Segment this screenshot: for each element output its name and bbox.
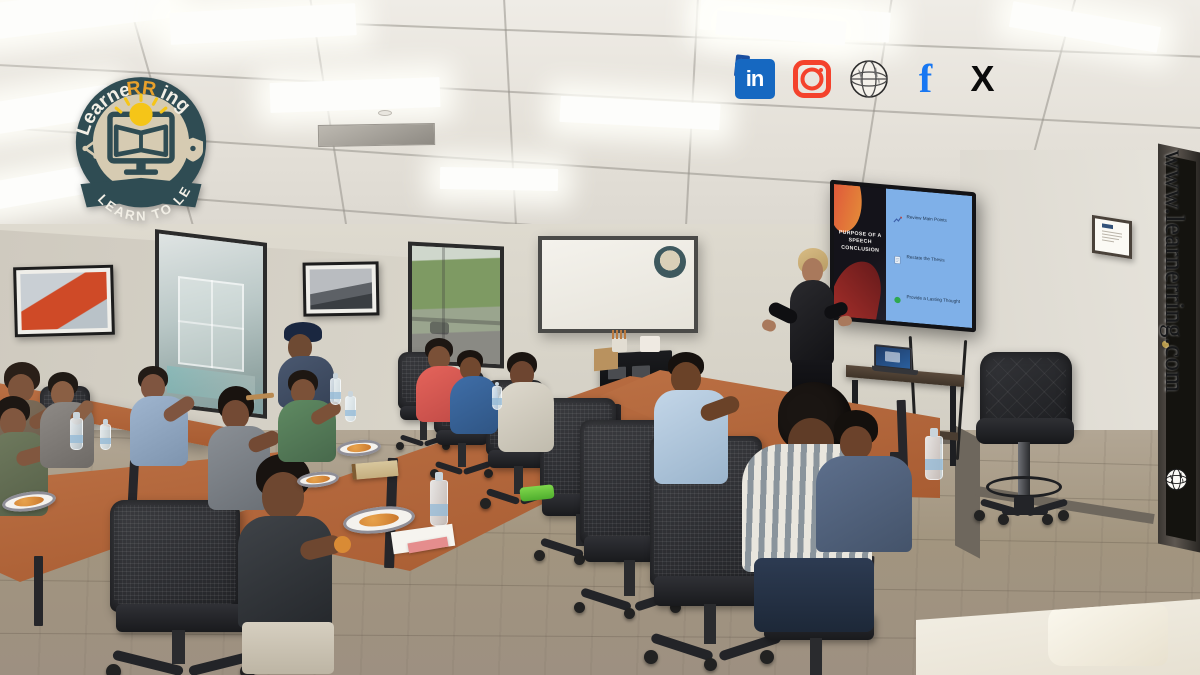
photo-canvas: PURPOSE OF A SPEECH CONCLUSION Review Ma…	[0, 0, 1200, 675]
x-twitter-icon[interactable]: X	[960, 57, 1005, 102]
air-vent	[318, 123, 435, 147]
green-dot-icon	[893, 291, 902, 301]
ceiling-light-panel	[440, 167, 558, 191]
slide-bullet-text: Review Main Points	[906, 215, 946, 224]
drafting-stool[interactable]	[972, 352, 1082, 530]
water-bottle[interactable]	[330, 378, 341, 405]
smoke-detector-icon	[378, 110, 392, 116]
water-bottle[interactable]	[492, 386, 502, 410]
globe-icon	[1165, 468, 1188, 491]
ceiling-light-panel	[270, 77, 441, 113]
slide-bullet: Review Main Points	[893, 211, 966, 226]
certificate-frame	[1092, 215, 1132, 259]
whiteboard	[538, 236, 698, 333]
water-bottle[interactable]	[345, 396, 356, 422]
learnerring-logo: Learne RR ing LEARN TO LEAD	[62, 74, 220, 226]
attendee	[816, 410, 926, 590]
slide-bullet: Provide a Lasting Thought	[893, 291, 966, 306]
helicopter-photo	[13, 265, 115, 338]
attendee	[234, 454, 344, 675]
attendee	[498, 352, 562, 464]
website-url: www.learnerring.com	[1159, 150, 1190, 393]
ceiling-light-panel	[169, 3, 356, 45]
wall-television: PURPOSE OF A SPEECH CONCLUSION Review Ma…	[830, 180, 976, 333]
slide-bullet-text: Provide a Lasting Thought	[906, 294, 960, 304]
whiteboard-logo-decal	[654, 246, 686, 278]
presentation-slide: PURPOSE OF A SPEECH CONCLUSION Review Ma…	[834, 184, 972, 328]
table-leg	[34, 556, 43, 626]
marker-cup-contents	[612, 330, 626, 339]
document-icon	[893, 251, 902, 261]
social-icon-row: in f X	[732, 53, 1005, 105]
linkedin-icon[interactable]: in	[732, 57, 777, 102]
water-bottle[interactable]	[925, 436, 943, 480]
slide-bullet-text: Restate the Thesis	[906, 254, 944, 262]
snack	[334, 536, 351, 553]
linkedin-label: in	[735, 59, 775, 99]
instagram-icon[interactable]	[789, 57, 834, 102]
presenter-laptop[interactable]	[872, 346, 918, 376]
stool-footring	[986, 476, 1062, 498]
facebook-label: f	[919, 61, 932, 98]
presenter-torso	[790, 280, 834, 366]
tiltrotor-photo	[303, 261, 380, 316]
cup-holder	[612, 338, 627, 352]
chart-line-icon	[893, 211, 902, 221]
ceiling-light-panel	[1009, 1, 1161, 53]
attendee	[656, 352, 738, 494]
presenter	[768, 248, 848, 398]
slide-bullet-panel: Review Main Points Restate the Thesis Pr…	[886, 189, 972, 328]
water-bottle[interactable]	[430, 480, 448, 526]
tissue-box	[640, 336, 660, 352]
water-bottle[interactable]	[100, 424, 111, 450]
slide-bullet: Restate the Thesis	[893, 251, 966, 266]
water-bottle[interactable]	[70, 418, 83, 450]
ceiling-light-panel	[0, 0, 171, 42]
x-label: X	[970, 58, 994, 100]
globe-website-icon[interactable]	[846, 57, 891, 102]
attendee	[128, 366, 196, 486]
attendee-shorts	[242, 622, 334, 674]
facebook-icon[interactable]: f	[903, 57, 948, 102]
